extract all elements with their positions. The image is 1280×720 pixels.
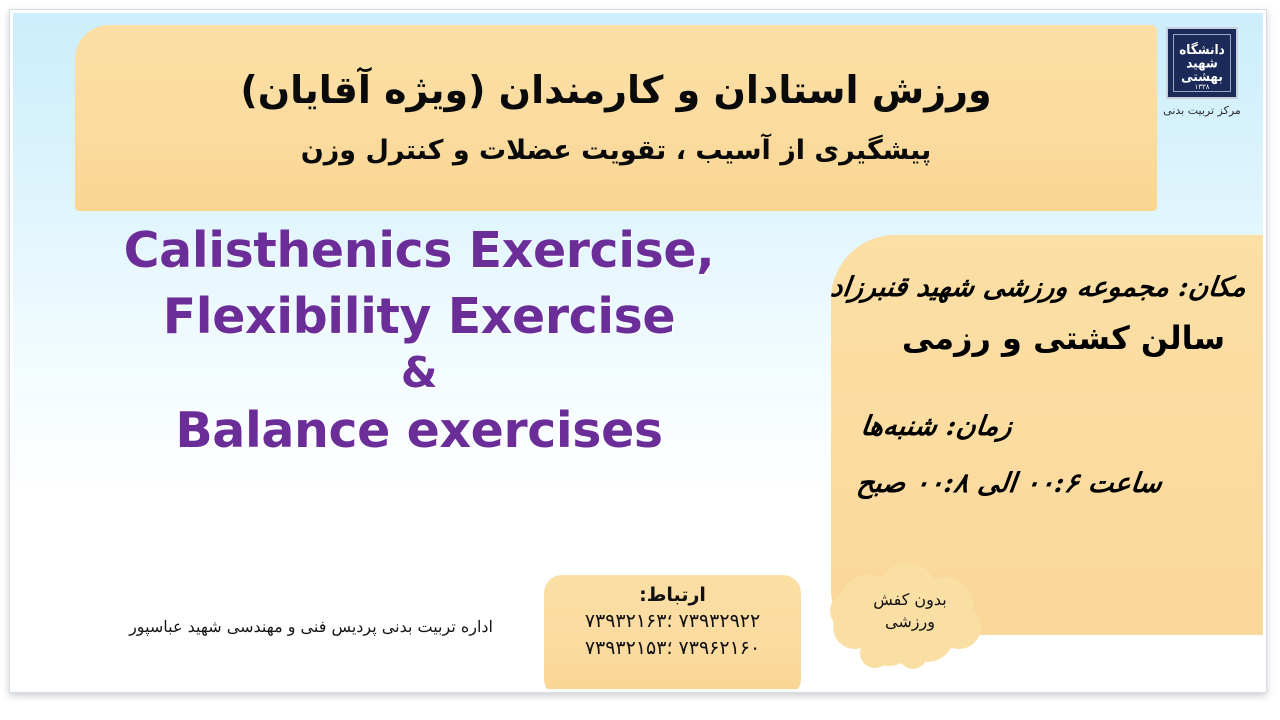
university-logo-icon: دانشگاه شهید بهشتی ۱۳۳۸ bbox=[1166, 27, 1238, 99]
english-title-ampersand: & bbox=[19, 349, 819, 397]
contact-phone-line-2: ۷۳۹۶۲۱۶۰ ؛۷۳۹۳۲۱۵۳ bbox=[554, 635, 791, 663]
header-banner: ورزش استادان و کارمندان (ویژه آقایان) پی… bbox=[75, 25, 1157, 211]
logo-year: ۱۳۳۸ bbox=[1168, 83, 1236, 91]
contact-box: ارتباط: ۷۳۹۳۲۹۲۲ ؛۷۳۹۳۲۱۶۳ ۷۳۹۶۲۱۶۰ ؛۷۳۹… bbox=[544, 575, 801, 689]
footer-credit: اداره تربیت بدنی پردیس فنی و مهندسی شهید… bbox=[73, 617, 493, 636]
schedule-hours: ساعت ۰۰:۶ الی ۰۰:۸ صبح bbox=[851, 468, 1248, 499]
university-logo-block: دانشگاه شهید بهشتی ۱۳۳۸ مرکز تربیت بدنی bbox=[1155, 23, 1249, 117]
contact-title: ارتباط: bbox=[554, 584, 791, 608]
english-title: Calisthenics Exercise, Flexibility Exerc… bbox=[19, 218, 819, 463]
cloud-note-line-1: بدون کفش bbox=[873, 589, 947, 611]
logo-caption: مرکز تربیت بدنی bbox=[1155, 104, 1249, 117]
schedule-day: زمان: شنبه‌ها bbox=[851, 411, 1248, 442]
english-title-line-4: Balance exercises bbox=[19, 398, 819, 464]
page-title: ورزش استادان و کارمندان (ویژه آقایان) bbox=[240, 68, 991, 113]
slide-frame: ورزش استادان و کارمندان (ویژه آقایان) پی… bbox=[9, 9, 1267, 693]
english-title-line-2: Flexibility Exercise bbox=[19, 284, 819, 350]
contact-phone-line-1: ۷۳۹۳۲۹۲۲ ؛۷۳۹۳۲۱۶۳ bbox=[554, 608, 791, 636]
english-title-line-1: Calisthenics Exercise, bbox=[19, 218, 819, 284]
slide-canvas: ورزش استادان و کارمندان (ویژه آقایان) پی… bbox=[13, 13, 1263, 689]
page-subtitle: پیشگیری از آسیب ، تقویت عضلات و کنترل وز… bbox=[301, 135, 932, 167]
venue-place: مکان: مجموعه ورزشی شهید قنبرزاده، bbox=[851, 273, 1248, 303]
cloud-callout: بدون کفش ورزشی bbox=[827, 561, 993, 677]
poster-stage: ورزش استادان و کارمندان (ویژه آقایان) پی… bbox=[0, 0, 1280, 720]
venue-hall: سالن کشتی و رزمی bbox=[853, 319, 1246, 357]
cloud-note-line-2: ورزشی bbox=[885, 611, 935, 633]
cloud-note-text: بدون کفش ورزشی bbox=[827, 561, 993, 677]
logo-wordmark: دانشگاه شهید بهشتی bbox=[1168, 42, 1236, 83]
